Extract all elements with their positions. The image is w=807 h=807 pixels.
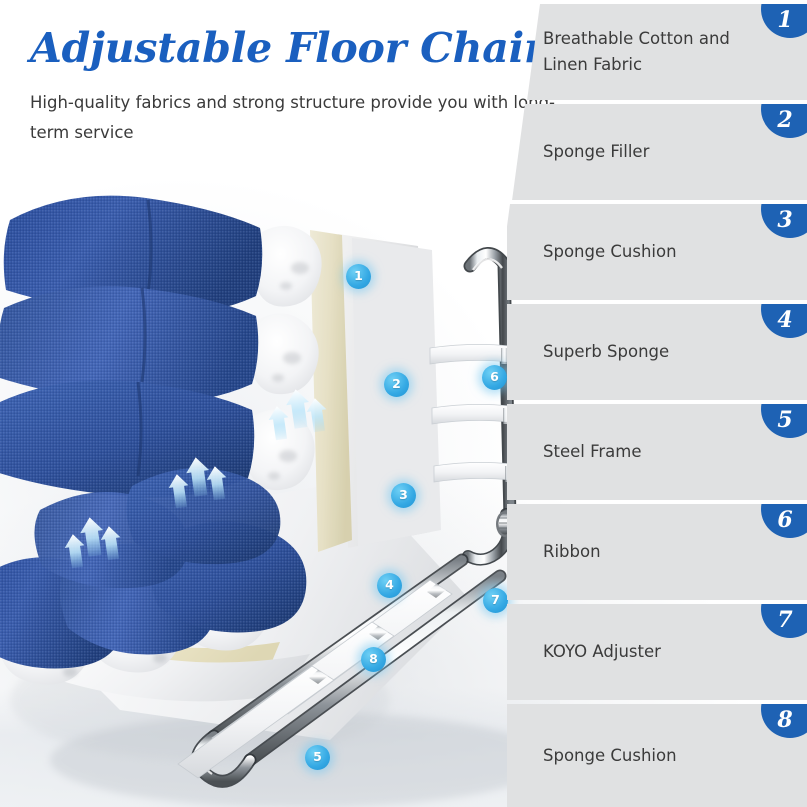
- feature-number: 2: [777, 109, 802, 138]
- feature-number: 5: [777, 409, 802, 438]
- feature-badge: 6: [761, 504, 807, 538]
- callout-5[interactable]: 5: [305, 745, 330, 770]
- infographic-page: Adjustable Floor Chair High-quality fabr…: [0, 0, 807, 807]
- floor-chair-cutaway-graphic: [0, 180, 560, 807]
- feature-badge: 5: [761, 404, 807, 438]
- callout-number: 2: [392, 378, 401, 391]
- feature-badge: 3: [761, 204, 807, 238]
- callout-number: 5: [313, 751, 322, 764]
- callout-number: 8: [369, 653, 378, 666]
- feature-panel-1[interactable]: Breathable Cotton and Linen Fabric 1: [507, 4, 807, 100]
- callout-number: 6: [490, 371, 499, 384]
- callout-8[interactable]: 8: [361, 647, 386, 672]
- feature-label: Superb Sponge: [507, 339, 763, 365]
- feature-label: KOYO Adjuster: [507, 639, 763, 665]
- callout-4[interactable]: 4: [377, 573, 402, 598]
- callout-2[interactable]: 2: [384, 372, 409, 397]
- feature-badge: 8: [761, 704, 807, 738]
- heading-block: Adjustable Floor Chair High-quality fabr…: [30, 22, 590, 148]
- feature-panel-2[interactable]: Sponge Filler 2: [507, 104, 807, 200]
- feature-badge: 2: [761, 104, 807, 138]
- feature-panel-8[interactable]: Sponge Cushion 8: [507, 704, 807, 807]
- feature-label: Sponge Cushion: [507, 743, 763, 769]
- feature-number: 3: [777, 209, 802, 238]
- feature-panel-7[interactable]: KOYO Adjuster 7: [507, 604, 807, 700]
- page-title: Adjustable Floor Chair: [30, 22, 590, 74]
- feature-label: Ribbon: [507, 539, 763, 565]
- feature-number: 4: [777, 309, 802, 338]
- feature-list: Breathable Cotton and Linen Fabric 1 Spo…: [507, 0, 807, 807]
- callout-6[interactable]: 6: [482, 365, 507, 390]
- feature-label: Sponge Cushion: [507, 239, 763, 265]
- feature-panel-4[interactable]: Superb Sponge 4: [507, 304, 807, 400]
- callout-1[interactable]: 1: [346, 264, 371, 289]
- feature-panel-3[interactable]: Sponge Cushion 3: [507, 204, 807, 300]
- feature-label: Sponge Filler: [507, 139, 763, 165]
- callout-3[interactable]: 3: [391, 483, 416, 508]
- feature-label: Breathable Cotton and Linen Fabric: [507, 26, 763, 78]
- feature-number: 1: [777, 9, 802, 38]
- feature-panel-6[interactable]: Ribbon 6: [507, 504, 807, 600]
- feature-number: 7: [777, 609, 802, 638]
- callout-number: 4: [385, 579, 394, 592]
- feature-badge: 7: [761, 604, 807, 638]
- page-subtitle: High-quality fabrics and strong structur…: [30, 88, 570, 148]
- feature-badge: 1: [761, 4, 807, 38]
- callout-number: 3: [399, 489, 408, 502]
- callout-number: 1: [354, 270, 363, 283]
- feature-number: 8: [777, 709, 802, 738]
- feature-panel-5[interactable]: Steel Frame 5: [507, 404, 807, 500]
- feature-number: 6: [777, 509, 802, 538]
- feature-badge: 4: [761, 304, 807, 338]
- feature-label: Steel Frame: [507, 439, 763, 465]
- product-illustration: [0, 180, 560, 807]
- callout-number: 7: [491, 594, 500, 607]
- callout-7[interactable]: 7: [483, 588, 508, 613]
